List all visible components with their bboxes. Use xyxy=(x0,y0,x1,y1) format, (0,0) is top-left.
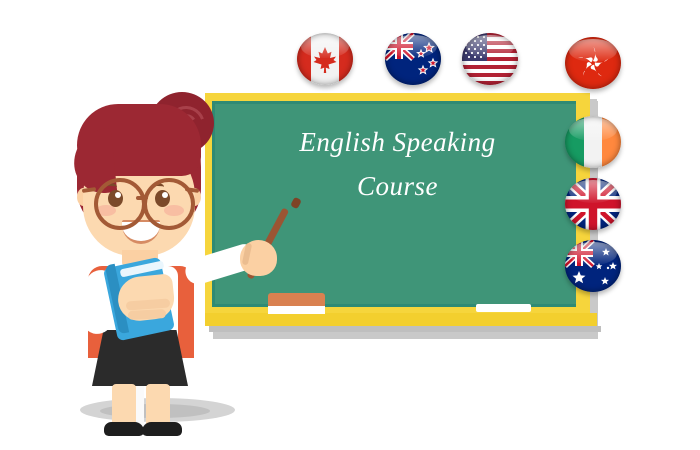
shoe-left xyxy=(104,422,144,436)
illustration-canvas: English Speaking Course xyxy=(0,0,700,450)
flag-united-kingdom-icon xyxy=(565,178,621,230)
glasses-bridge xyxy=(136,196,148,200)
flag-united-states-icon xyxy=(462,33,518,85)
flag-new-zealand-icon xyxy=(385,33,441,85)
eraser-icon xyxy=(268,293,325,306)
flag-hong-kong-icon xyxy=(565,37,621,89)
glasses-lens-right xyxy=(143,178,195,230)
shoe-right xyxy=(142,422,182,436)
eraser-base xyxy=(268,305,325,314)
chalkboard-ledge-shadow xyxy=(209,326,601,332)
chalkboard-ledge xyxy=(205,313,597,326)
glasses-lens-left xyxy=(94,178,146,230)
chalk-icon xyxy=(476,304,531,312)
flag-canada-icon xyxy=(297,33,353,85)
skirt xyxy=(92,330,188,386)
chalkboard-heading-line2: Course xyxy=(357,164,438,208)
chalkboard-text: English Speaking Course xyxy=(215,120,580,240)
flag-ireland-icon xyxy=(565,116,621,168)
flag-australia-icon xyxy=(565,240,621,292)
chalkboard-heading-line1: English Speaking xyxy=(299,120,495,164)
